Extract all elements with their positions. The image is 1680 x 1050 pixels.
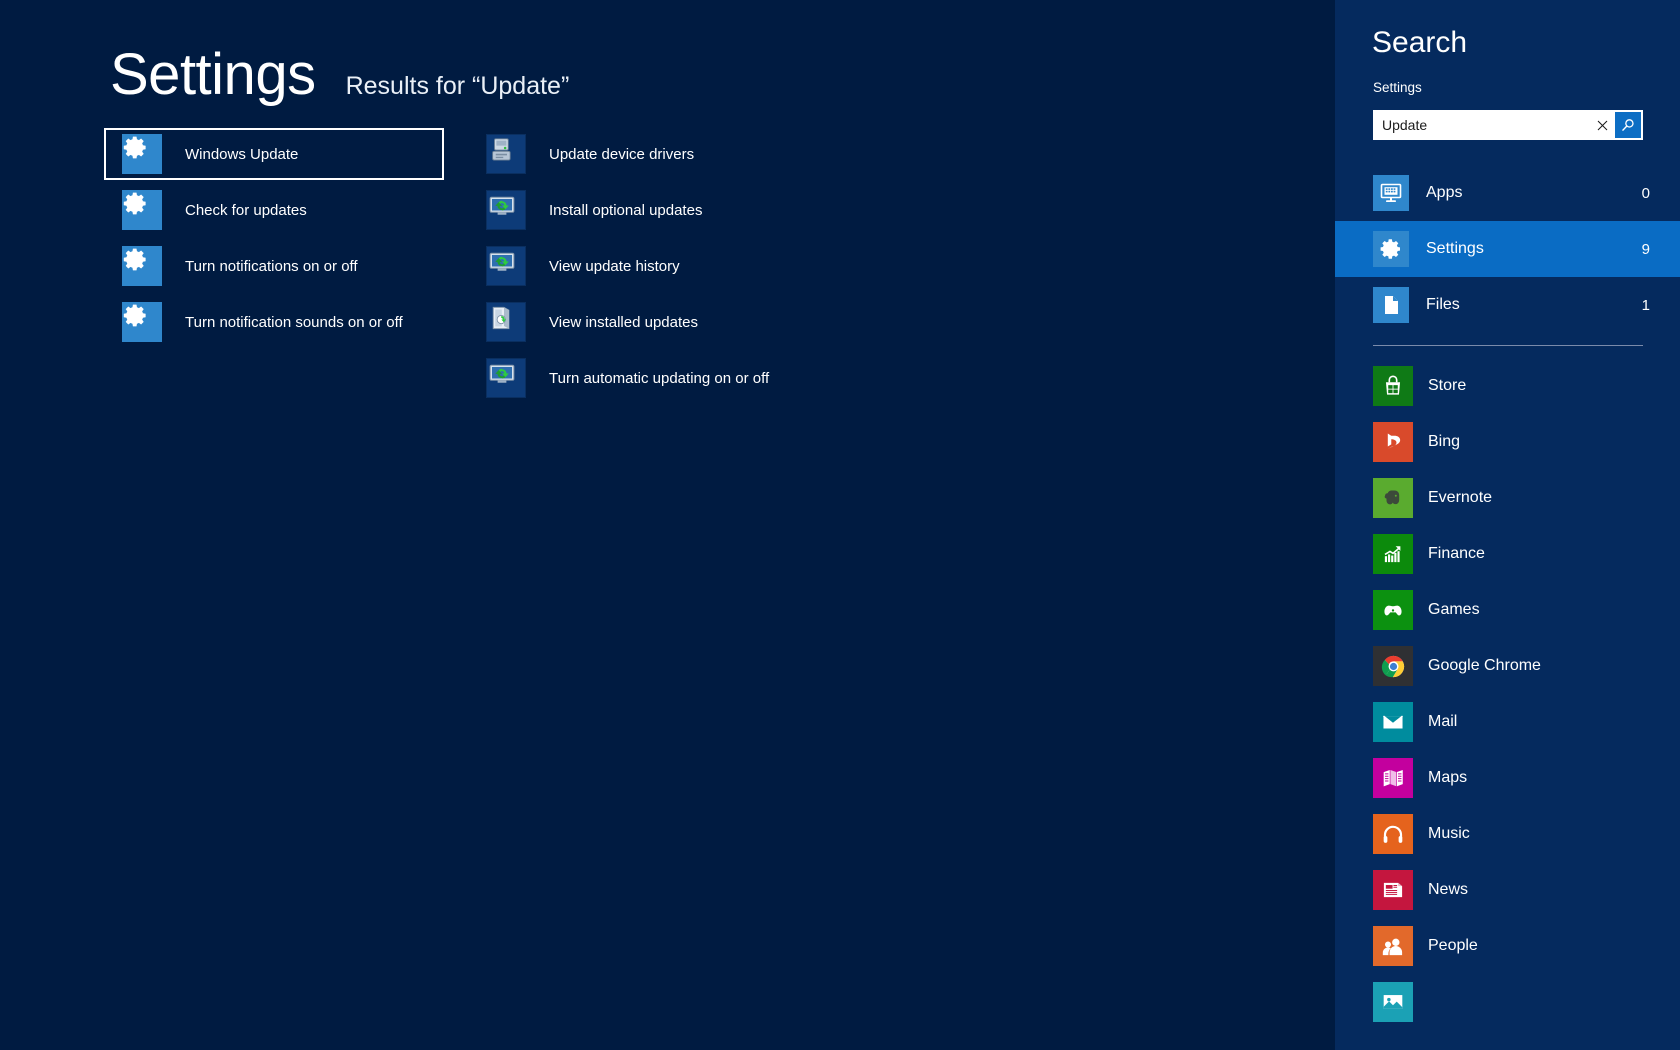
result-item-label: Install optional updates (549, 202, 702, 219)
news-paper-icon (1373, 870, 1413, 910)
app-label: Mail (1428, 713, 1457, 731)
scope-label: Settings (1426, 240, 1642, 258)
app-label: Music (1428, 825, 1470, 843)
scope-count: 1 (1642, 297, 1650, 314)
results-columns: Windows Update Check for updates (104, 128, 808, 408)
app-label: Games (1428, 601, 1480, 619)
settings-gear-icon (122, 246, 162, 286)
app-label: News (1428, 881, 1468, 899)
results-column-2: Update device drivers Install optional u… (468, 128, 808, 408)
device-printer-icon (486, 134, 526, 174)
result-item-turn-automatic-updating[interactable]: Turn automatic updating on or off (468, 352, 808, 404)
finance-chart-icon (1373, 534, 1413, 574)
settings-gear-icon (122, 302, 162, 342)
app-row-store[interactable]: Store (1335, 358, 1680, 414)
result-item-label: View update history (549, 258, 680, 275)
monitor-refresh-icon (486, 358, 526, 398)
scope-count: 9 (1642, 241, 1650, 258)
store-bag-icon (1373, 366, 1413, 406)
app-row-evernote[interactable]: Evernote (1335, 470, 1680, 526)
search-app-list: Store Bing Evernote (1335, 358, 1680, 1030)
app-label: People (1428, 937, 1478, 955)
scope-row-files[interactable]: Files 1 (1335, 277, 1680, 333)
scope-label: Apps (1426, 184, 1642, 202)
scope-row-apps[interactable]: Apps 0 (1335, 165, 1680, 221)
app-row-finance[interactable]: Finance (1335, 526, 1680, 582)
app-label: Bing (1428, 433, 1460, 451)
app-label: Evernote (1428, 489, 1492, 507)
result-item-label: View installed updates (549, 314, 698, 331)
search-charm-panel: Search Settings (1335, 0, 1680, 1050)
results-area: Settings Results for “Update” Windows Up… (0, 0, 1335, 1050)
mail-envelope-icon (1373, 702, 1413, 742)
result-item-install-optional-updates[interactable]: Install optional updates (468, 184, 808, 236)
app-row-music[interactable]: Music (1335, 806, 1680, 862)
app-label: Store (1428, 377, 1466, 395)
search-input[interactable] (1373, 110, 1589, 140)
app-label: Finance (1428, 545, 1485, 563)
app-row-bing[interactable]: Bing (1335, 414, 1680, 470)
scope-label: Files (1426, 296, 1642, 314)
result-item-windows-update[interactable]: Windows Update (104, 128, 444, 180)
bing-b-icon (1373, 422, 1413, 462)
windows-search-settings-screen: Settings Results for “Update” Windows Up… (0, 0, 1680, 1050)
scope-count: 0 (1642, 185, 1650, 202)
result-item-view-update-history[interactable]: View update history (468, 240, 808, 292)
settings-gear-icon (122, 134, 162, 174)
close-icon[interactable] (1589, 110, 1615, 140)
settings-gear-icon (122, 190, 162, 230)
panel-divider (1373, 345, 1643, 346)
app-row-games[interactable]: Games (1335, 582, 1680, 638)
result-item-label: Windows Update (185, 146, 298, 163)
app-row-people[interactable]: People (1335, 918, 1680, 974)
result-item-label: Turn notification sounds on or off (185, 314, 403, 331)
music-headphones-icon (1373, 814, 1413, 854)
result-item-turn-notifications[interactable]: Turn notifications on or off (104, 240, 444, 292)
games-controller-icon (1373, 590, 1413, 630)
file-document-icon (1373, 287, 1409, 323)
search-panel-title: Search (1372, 28, 1467, 58)
results-column-1: Windows Update Check for updates (104, 128, 444, 408)
result-item-label: Turn notifications on or off (185, 258, 358, 275)
app-row-maps[interactable]: Maps (1335, 750, 1680, 806)
app-label: Maps (1428, 769, 1467, 787)
results-for-label: Results for “Update” (346, 74, 570, 99)
result-item-check-for-updates[interactable]: Check for updates (104, 184, 444, 236)
chrome-logo-icon (1373, 646, 1413, 686)
page-header: Settings Results for “Update” (110, 46, 569, 104)
installed-package-icon (486, 302, 526, 342)
result-item-update-device-drivers[interactable]: Update device drivers (468, 128, 808, 180)
result-item-label: Update device drivers (549, 146, 694, 163)
result-item-label: Turn automatic updating on or off (549, 370, 769, 387)
people-group-icon (1373, 926, 1413, 966)
monitor-refresh-icon (486, 190, 526, 230)
apps-monitor-icon (1373, 175, 1409, 211)
app-row-partial[interactable] (1335, 974, 1680, 1030)
scope-row-settings[interactable]: Settings 9 (1335, 221, 1680, 277)
result-item-view-installed-updates[interactable]: View installed updates (468, 296, 808, 348)
settings-gear-icon (1373, 231, 1409, 267)
search-scope-label: Settings (1373, 80, 1422, 95)
app-row-news[interactable]: News (1335, 862, 1680, 918)
search-icon[interactable] (1615, 112, 1641, 138)
photos-icon (1373, 982, 1413, 1022)
maps-folded-icon (1373, 758, 1413, 798)
monitor-refresh-icon (486, 246, 526, 286)
evernote-elephant-icon (1373, 478, 1413, 518)
app-label: Google Chrome (1428, 657, 1541, 675)
app-row-google-chrome[interactable]: Google Chrome (1335, 638, 1680, 694)
app-row-mail[interactable]: Mail (1335, 694, 1680, 750)
search-scope-list: Apps 0 Settings 9 (1335, 165, 1680, 333)
page-title: Settings (110, 46, 316, 104)
result-item-label: Check for updates (185, 202, 307, 219)
search-box (1373, 110, 1643, 140)
result-item-turn-notification-sounds[interactable]: Turn notification sounds on or off (104, 296, 444, 348)
